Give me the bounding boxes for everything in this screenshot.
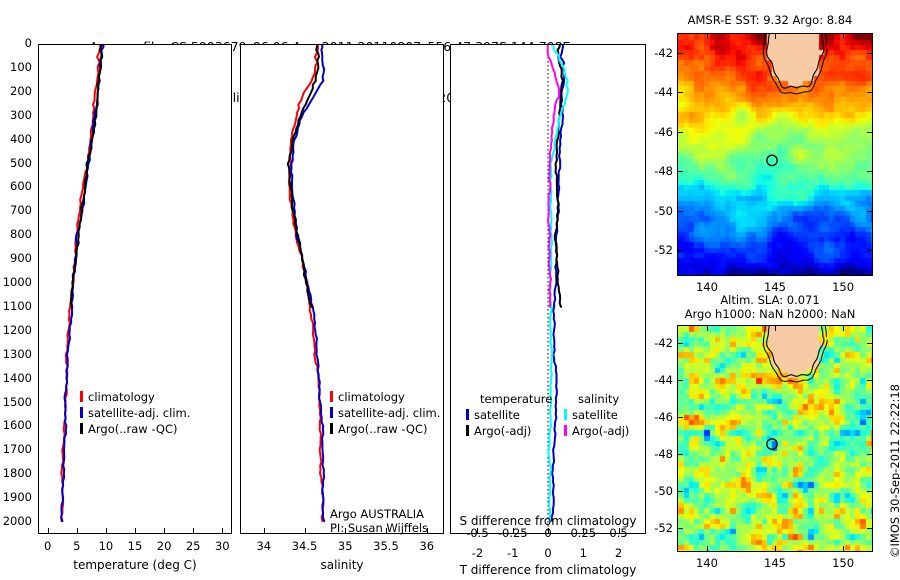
argo-program-name: Argo AUSTRALIA xyxy=(330,507,424,522)
depth-tick-300: 300 xyxy=(0,110,32,120)
depth-tick-0: 0 xyxy=(0,38,32,48)
legend-swatch-temp-argo-adj xyxy=(466,425,469,436)
legend-swatch-climatology-2 xyxy=(330,391,333,402)
map-xtick-140: 140 xyxy=(682,280,732,294)
depth-tick-1100: 1100 xyxy=(0,301,32,311)
map-xtick-140: 140 xyxy=(682,556,732,570)
depth-tick-1000: 1000 xyxy=(0,277,32,287)
legend-header-temperature: temperature xyxy=(480,392,552,407)
legend-swatch-sal-argo-adj xyxy=(564,425,567,436)
legend-temp-satellite: satellite xyxy=(466,408,520,423)
temperature-axis-label: temperature (deg C) xyxy=(38,558,232,572)
legend-label-argo-raw: Argo(..raw -QC) xyxy=(88,422,178,436)
legend-label-temp-satellite: satellite xyxy=(474,408,520,422)
depth-tick-100: 100 xyxy=(0,62,32,72)
sla-map xyxy=(677,325,873,552)
salinity-axis-label: salinity xyxy=(240,558,444,572)
temperature-curves xyxy=(39,45,231,533)
legend-label-sal-argo-adj: Argo(-adj) xyxy=(572,424,629,438)
difference-profile-plot xyxy=(450,44,646,534)
legend-label-sal-satellite: satellite xyxy=(572,408,618,422)
legend-swatch-climatology xyxy=(80,391,83,402)
argo-principal-investigator: PI: Susan Wijffels xyxy=(330,521,428,536)
difference-curves xyxy=(451,45,645,533)
depth-tick-800: 800 xyxy=(0,229,32,239)
legend-label-argo-raw-2: Argo(..raw -QC) xyxy=(338,422,428,436)
depth-tick-900: 900 xyxy=(0,253,32,263)
map-ytick--50: -50 xyxy=(633,204,673,218)
legend-salinity-satellite-adj: satellite-adj. clim. xyxy=(330,406,440,421)
legend-label-satellite-adj: satellite-adj. clim. xyxy=(88,406,190,420)
map-ytick--46: -46 xyxy=(633,410,673,424)
map-xtick-145: 145 xyxy=(750,280,800,294)
map-ytick--52: -52 xyxy=(633,243,673,257)
map-xtick-145: 145 xyxy=(750,556,800,570)
sla-map-title-line1: Altim. SLA: 0.071 xyxy=(650,293,890,307)
depth-tick-1800: 1800 xyxy=(0,468,32,478)
map-ytick--44: -44 xyxy=(633,85,673,99)
salinity-profile-plot xyxy=(240,44,444,534)
map-ytick--48: -48 xyxy=(633,164,673,178)
depth-tick-1200: 1200 xyxy=(0,325,32,335)
map-ytick--44: -44 xyxy=(633,373,673,387)
legend-swatch-satellite-adj-2 xyxy=(330,407,333,418)
xtick-T2: 2 xyxy=(589,546,649,560)
legend-swatch-sal-satellite xyxy=(564,409,567,420)
legend-label-climatology-2: climatology xyxy=(338,390,405,404)
legend-temp-argo-adj: Argo(-adj) xyxy=(466,424,531,439)
salinity-curves xyxy=(241,45,443,533)
depth-tick-400: 400 xyxy=(0,134,32,144)
map-ytick--42: -42 xyxy=(633,46,673,60)
legend-header-salinity: salinity xyxy=(578,392,619,407)
map-xtick-150: 150 xyxy=(818,280,868,294)
sst-coastline xyxy=(678,34,873,276)
legend-temperature-satellite-adj: satellite-adj. clim. xyxy=(80,406,190,421)
legend-temperature-climatology: climatology xyxy=(80,390,155,405)
map-ytick--50: -50 xyxy=(633,484,673,498)
depth-tick-500: 500 xyxy=(0,158,32,168)
depth-tick-1900: 1900 xyxy=(0,492,32,502)
sla-coastline xyxy=(678,326,873,552)
depth-tick-1600: 1600 xyxy=(0,420,32,430)
legend-label-satellite-adj-2: satellite-adj. clim. xyxy=(338,406,440,420)
depth-tick-1400: 1400 xyxy=(0,373,32,383)
depth-tick-700: 700 xyxy=(0,205,32,215)
legend-salinity-climatology: climatology xyxy=(330,390,405,405)
sla-map-title-line2: Argo h1000: NaN h2000: NaN xyxy=(650,307,890,321)
depth-tick-1700: 1700 xyxy=(0,444,32,454)
depth-tick-200: 200 xyxy=(0,86,32,96)
depth-tick-600: 600 xyxy=(0,181,32,191)
legend-swatch-satellite-adj xyxy=(80,407,83,418)
legend-label-climatology: climatology xyxy=(88,390,155,404)
depth-tick-2000: 2000 xyxy=(0,516,32,526)
legend-sal-satellite: satellite xyxy=(564,408,618,423)
legend-swatch-argo-raw xyxy=(80,423,83,434)
legend-salinity-argo-raw: Argo(..raw -QC) xyxy=(330,422,428,437)
map-ytick--46: -46 xyxy=(633,125,673,139)
legend-swatch-argo-raw-2 xyxy=(330,423,333,434)
sst-map xyxy=(677,33,873,276)
depth-tick-1300: 1300 xyxy=(0,349,32,359)
map-ytick--52: -52 xyxy=(633,521,673,535)
legend-label-temp-argo-adj: Argo(-adj) xyxy=(474,424,531,438)
temperature-profile-plot xyxy=(38,44,232,534)
imos-credit: ©IMOS 30-Sep-2011 22:22:18 xyxy=(888,384,900,558)
depth-tick-1500: 1500 xyxy=(0,397,32,407)
map-ytick--48: -48 xyxy=(633,447,673,461)
difference-temperature-axis-label: T difference from climatology xyxy=(450,563,646,577)
map-xtick-150: 150 xyxy=(818,556,868,570)
legend-temperature-argo-raw: Argo(..raw -QC) xyxy=(80,422,178,437)
map-ytick--42: -42 xyxy=(633,336,673,350)
sst-map-title: AMSR-E SST: 9.32 Argo: 8.84 xyxy=(650,13,890,27)
legend-sal-argo-adj: Argo(-adj) xyxy=(564,424,629,439)
difference-salinity-axis-label: S difference from climatology xyxy=(450,514,646,528)
legend-swatch-temp-satellite xyxy=(466,409,469,420)
